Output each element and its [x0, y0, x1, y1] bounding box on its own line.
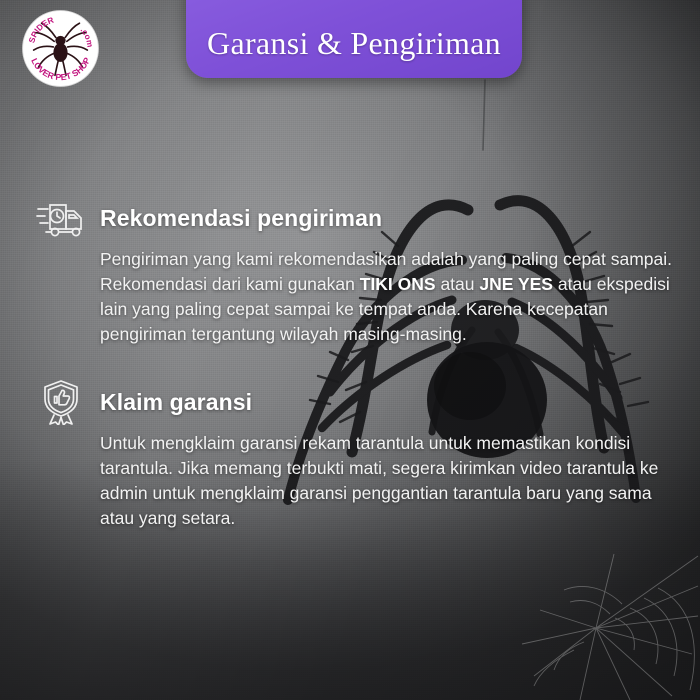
fast-delivery-truck-icon [36, 196, 86, 240]
section-header: Klaim garansi [36, 380, 672, 424]
spider-web-icon [510, 550, 700, 700]
brand-logo[interactable]: SPIDER .com LOVER PET SHOP [21, 9, 100, 88]
header-banner: Garansi & Pengiriman [186, 0, 522, 78]
section-body: Pengiriman yang kami rekomendasikan adal… [100, 247, 672, 346]
section-shipping: Rekomendasi pengiriman Pengiriman yang k… [36, 196, 672, 346]
content-area: Rekomendasi pengiriman Pengiriman yang k… [36, 196, 672, 557]
section-body: Untuk mengklaim garansi rekam tarantula … [100, 431, 672, 530]
promo-poster: SPIDER .com LOVER PET SHOP Garansi & Pen… [0, 0, 700, 700]
section-header: Rekomendasi pengiriman [36, 196, 672, 240]
section-warranty: Klaim garansi Untuk mengklaim garansi re… [36, 380, 672, 530]
page-title: Garansi & Pengiriman [207, 25, 501, 62]
section-title: Rekomendasi pengiriman [100, 205, 382, 232]
guarantee-shield-thumbsup-icon [36, 380, 86, 424]
section-title: Klaim garansi [100, 389, 252, 416]
